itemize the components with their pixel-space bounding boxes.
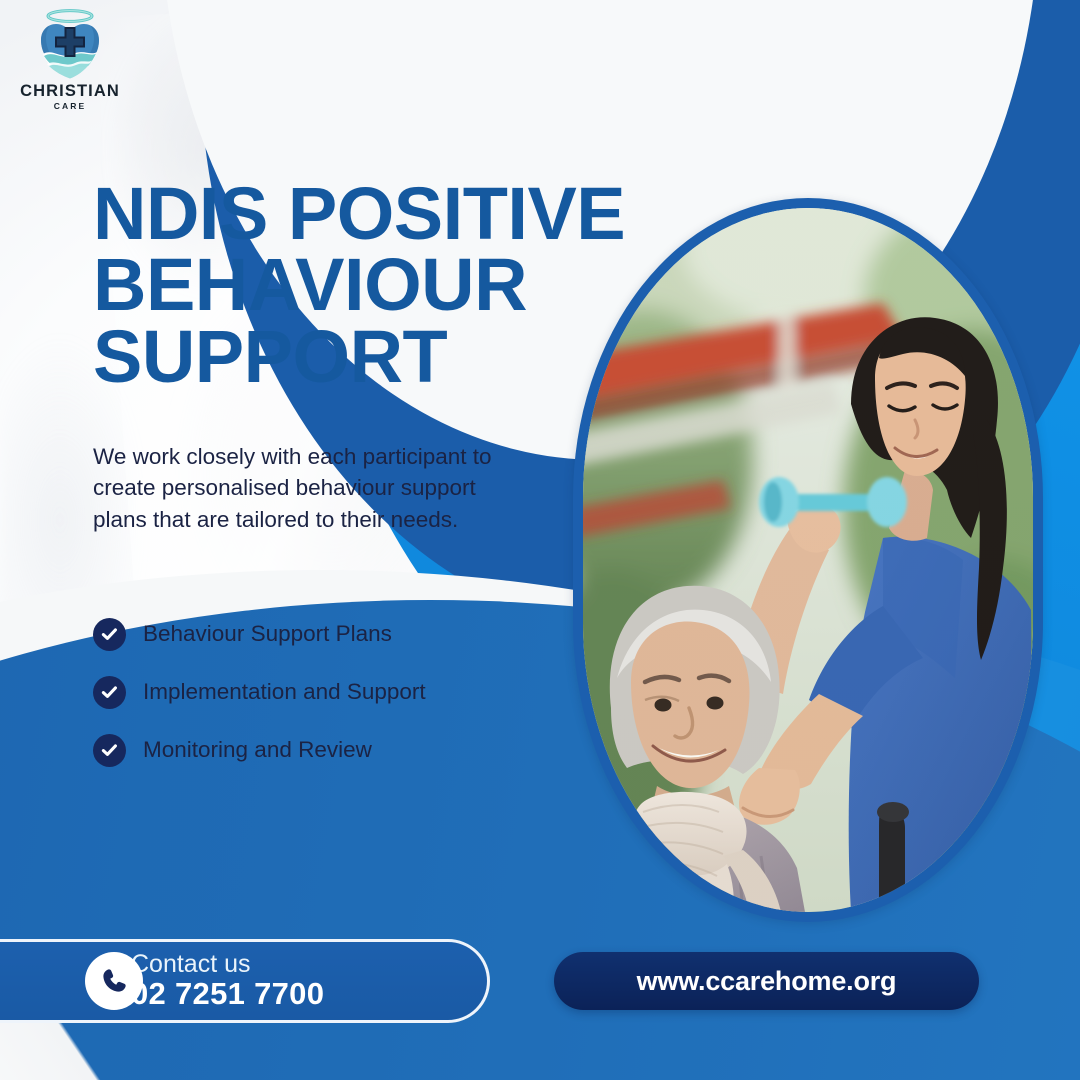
christian-care-cross-heart-logo-icon bbox=[31, 8, 109, 82]
poster: CHRISTIAN CARE NDIS POSITIVE BEHAVIOUR S… bbox=[0, 0, 1080, 1080]
brand-logo: CHRISTIAN CARE bbox=[14, 8, 126, 120]
check-circle-icon bbox=[93, 676, 126, 709]
contact-label: Contact us bbox=[131, 951, 324, 977]
website-url[interactable]: www.ccarehome.org bbox=[637, 966, 897, 997]
subcopy-text: We work closely with each participant to… bbox=[93, 441, 493, 537]
feature-list: Behaviour Support Plans Implementation a… bbox=[93, 605, 523, 779]
list-item-label: Behaviour Support Plans bbox=[143, 623, 392, 646]
photo-nurse-and-elderly-woman bbox=[583, 208, 1033, 912]
list-item-label: Monitoring and Review bbox=[143, 739, 372, 762]
contact-number[interactable]: 02 7251 7700 bbox=[131, 977, 324, 1012]
website-badge[interactable]: www.ccarehome.org bbox=[554, 952, 979, 1010]
list-item-label: Implementation and Support bbox=[143, 681, 426, 704]
check-circle-icon bbox=[93, 618, 126, 651]
list-item: Implementation and Support bbox=[93, 663, 523, 721]
contact-banner[interactable]: Contact us 02 7251 7700 bbox=[0, 939, 490, 1023]
phone-handset-glyph bbox=[98, 965, 130, 997]
photo-illustration bbox=[583, 208, 1033, 912]
list-item: Behaviour Support Plans bbox=[93, 605, 523, 663]
phone-icon bbox=[85, 952, 143, 1010]
list-item: Monitoring and Review bbox=[93, 721, 523, 779]
logo-name: CHRISTIAN bbox=[20, 83, 120, 100]
contact-text-block: Contact us 02 7251 7700 bbox=[131, 951, 324, 1012]
photo-frame bbox=[573, 198, 1043, 922]
logo-tagline: CARE bbox=[54, 102, 87, 111]
check-circle-icon bbox=[93, 734, 126, 767]
